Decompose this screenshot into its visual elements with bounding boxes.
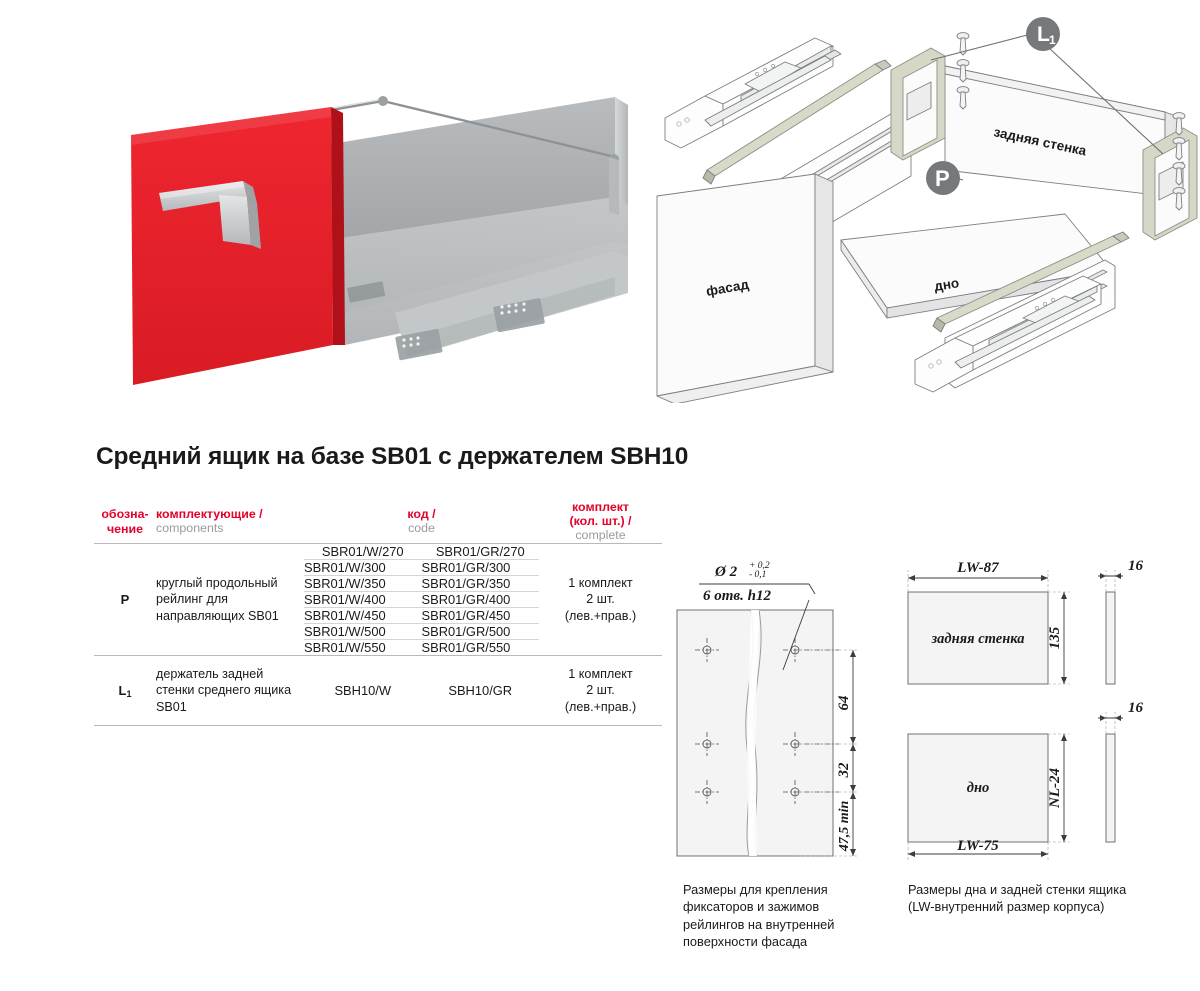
cell-code-white: SBR01/W/550 (304, 640, 422, 656)
dim-back-wall-height: 135 (1047, 626, 1063, 649)
table-row: P круглый продольный рейлинг для направл… (94, 544, 662, 560)
dim-diameter: Ø 2 (714, 564, 738, 580)
cell-code-grey: SBH10/GR (422, 656, 540, 726)
cell-code-white: SBR01/W/350 (304, 576, 422, 592)
cell-component-p: круглый продольный рейлинг для направляю… (156, 544, 304, 656)
table-header-row: обозна- чение комплектующие / components… (94, 500, 662, 544)
document-page: L 1 P задняя стенка дно фасад Средний ящ… (0, 0, 1200, 991)
panel-dimensions-drawing: задняя стенка LW-87 135 (898, 548, 1194, 868)
header-designation: обозна- чение (94, 500, 156, 544)
svg-text:P: P (935, 166, 950, 191)
dim-bottom-thickness: 16 (1128, 700, 1144, 716)
cell-code-white: SBR01/W/400 (304, 592, 422, 608)
label-bottom: дно (967, 780, 990, 796)
cell-code-grey: SBR01/GR/450 (422, 608, 540, 624)
cell-complete-l1: 1 комплект 2 шт. (лев.+прав.) (539, 656, 662, 726)
cell-code-white: SBR01/W/450 (304, 608, 422, 624)
dim-64: 64 (836, 695, 852, 711)
facade-drilling-drawing: 64 32 47,5 min Ø 2 + 0,2 - 0,1 6 отв. h1… (663, 548, 893, 868)
label-back-wall: задняя стенка (931, 631, 1025, 647)
cell-code-white: SBR01/W/300 (304, 560, 422, 576)
cell-complete-p: 1 комплект 2 шт. (лев.+прав.) (539, 544, 662, 656)
cell-code-grey: SBR01/GR/350 (422, 576, 540, 592)
parts-table: обозна- чение комплектующие / components… (94, 500, 662, 726)
dim-bottom-width: LW-75 (956, 838, 999, 854)
cell-code-white: SBR01/W/500 (304, 624, 422, 640)
header-components: комплектующие / components (156, 500, 304, 544)
cell-code-white: SBH10/W (304, 656, 422, 726)
cell-code-grey: SBR01/GR/300 (422, 560, 540, 576)
svg-text:1: 1 (1049, 33, 1056, 47)
cell-code-grey: SBR01/GR/500 (422, 624, 540, 640)
caption-facade-drawing: Размеры для крепления фиксаторов и зажим… (683, 881, 883, 951)
dim-back-wall-thickness: 16 (1128, 558, 1144, 574)
tolerance-lower: - 0,1 (749, 570, 766, 580)
dim-32: 32 (836, 762, 852, 779)
header-complete: комплект (кол. шт.) / complete (539, 500, 662, 544)
product-photo-red-drawer (95, 45, 635, 400)
parts-table-wrapper: обозна- чение комплектующие / components… (94, 500, 662, 726)
holes-note: 6 отв. h12 (703, 588, 771, 604)
cell-code-grey: SBR01/GR/270 (422, 544, 540, 560)
caption-panel-drawing: Размеры дна и задней стенки ящика (LW-вн… (908, 881, 1198, 916)
dim-back-wall-width: LW-87 (956, 560, 999, 576)
table-row: L1 держатель задней стенки среднего ящик… (94, 656, 662, 726)
cell-code-grey: SBR01/GR/400 (422, 592, 540, 608)
cell-designation-l1: L1 (94, 656, 156, 726)
cell-component-l1: держатель задней стенки среднего ящика S… (156, 656, 304, 726)
callout-l1: L 1 (1026, 17, 1060, 51)
callout-p: P (926, 161, 960, 195)
dim-bottom-height: NL-24 (1047, 768, 1063, 809)
page-title: Средний ящик на базе SB01 с держателем S… (96, 443, 856, 471)
cell-designation-p: P (94, 544, 156, 656)
dim-47-5-min: 47,5 min (837, 801, 852, 853)
cell-code-grey: SBR01/GR/550 (422, 640, 540, 656)
exploded-assembly-diagram: L 1 P задняя стенка дно фасад (645, 8, 1200, 403)
cell-code-white: SBR01/W/270 (304, 544, 422, 560)
header-code: код / code (304, 500, 539, 544)
